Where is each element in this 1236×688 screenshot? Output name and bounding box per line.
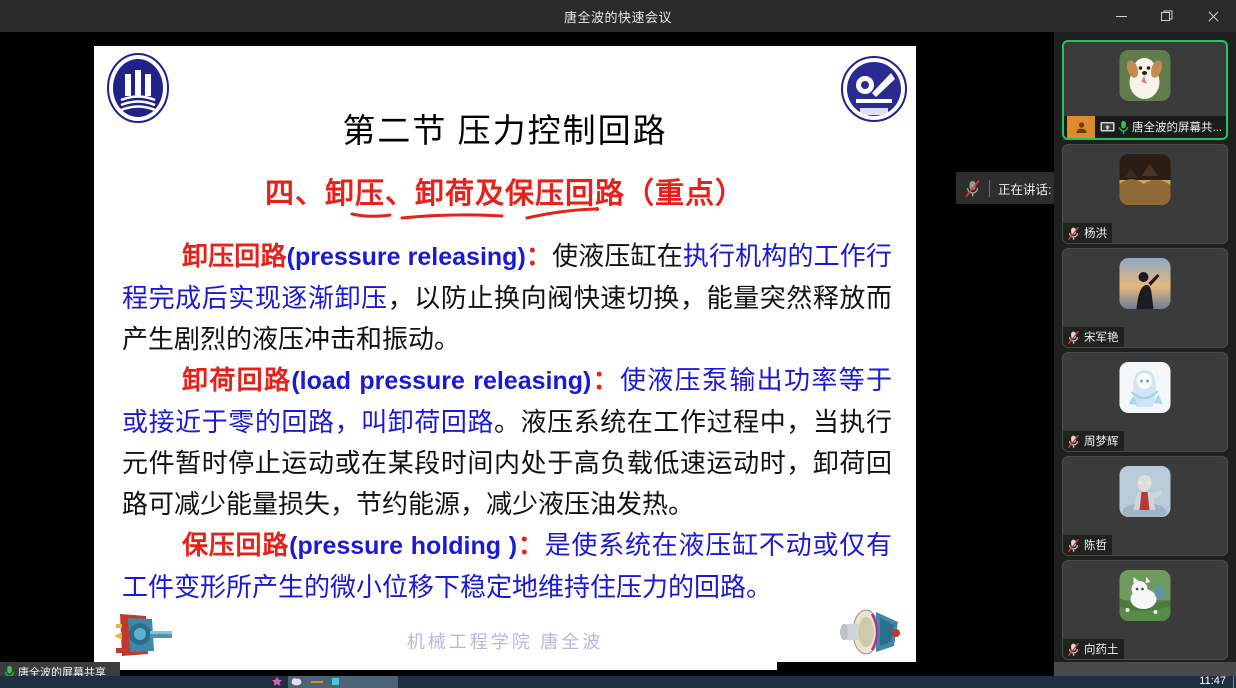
window-titlebar: 唐全波的快速会议 bbox=[0, 0, 1236, 32]
toast-divider bbox=[989, 180, 990, 197]
slide-footer: 机械工程学院 唐全波 bbox=[94, 628, 916, 654]
presentation-slide: 第二节 压力控制回路 四、卸压、卸荷及保压回路（重点） 卸压回路(pressur… bbox=[94, 46, 916, 664]
participant-label-5: 向药土 bbox=[1063, 639, 1124, 659]
run-0-0: 使液压缸在 bbox=[552, 242, 683, 271]
mic-muted-icon bbox=[1066, 642, 1081, 657]
participant-tile-4[interactable]: 陈哲 bbox=[1062, 456, 1228, 556]
cyan-square-icon[interactable] bbox=[332, 678, 339, 685]
paragraph-load-pressure-releasing: 卸荷回路(load pressure releasing)：使液压泵输出功率等于… bbox=[122, 360, 892, 525]
participant-tile-2[interactable]: 宋军艳 bbox=[1062, 248, 1228, 348]
paragraph-pressure-holding: 保压回路(pressure holding )：是使系统在液压缸不动或仅有工件变… bbox=[122, 525, 892, 608]
show-desktop-divider[interactable] bbox=[1233, 676, 1234, 688]
close-button[interactable] bbox=[1190, 0, 1236, 32]
avatar bbox=[1120, 362, 1171, 413]
participant-name-4: 陈哲 bbox=[1084, 537, 1107, 553]
window-controls bbox=[1098, 0, 1236, 32]
term-en-0: (pressure releasing) bbox=[287, 243, 526, 271]
person-sunset-avatar-icon bbox=[1120, 258, 1171, 309]
white-cat-avatar-icon bbox=[1120, 570, 1171, 621]
mic-muted-icon bbox=[1066, 330, 1081, 345]
avatar bbox=[1120, 258, 1171, 309]
term-en-1: (load pressure releasing) bbox=[291, 367, 591, 395]
participant-tile-5[interactable]: 向药土 bbox=[1062, 560, 1228, 660]
participant-name-2: 宋军艳 bbox=[1084, 329, 1119, 345]
participant-tile-0[interactable]: 唐全波的屏幕共... bbox=[1062, 40, 1228, 140]
term-en-2: (pressure holding ) bbox=[289, 532, 517, 560]
participant-name-5: 向药土 bbox=[1084, 641, 1119, 657]
taskbar-tray[interactable] bbox=[272, 677, 339, 686]
term-cn-2: 保压回路 bbox=[182, 531, 289, 560]
dog-avatar-icon bbox=[1120, 50, 1171, 101]
mic-muted-icon bbox=[1066, 434, 1081, 449]
subtitle-underlines bbox=[94, 206, 916, 220]
underlying-window-strip bbox=[0, 662, 1116, 670]
os-taskbar[interactable]: 11:47 bbox=[0, 676, 1236, 688]
participant-label-2: 宋军艳 bbox=[1063, 327, 1124, 347]
paragraph-pressure-releasing: 卸压回路(pressure releasing)：使液压缸在执行机构的工作行程完… bbox=[122, 236, 892, 360]
participant-label-0: 唐全波的屏幕共... bbox=[1064, 116, 1227, 138]
landscape-avatar-icon bbox=[1120, 154, 1171, 205]
participant-label-3: 周梦辉 bbox=[1063, 431, 1124, 451]
term-cn-1: 卸荷回路 bbox=[182, 366, 291, 395]
person-icon bbox=[1075, 121, 1088, 134]
avatar bbox=[1120, 50, 1171, 101]
participant-label-1: 杨洪 bbox=[1063, 223, 1112, 243]
participant-tile-3[interactable]: 周梦辉 bbox=[1062, 352, 1228, 452]
restore-icon bbox=[1161, 10, 1173, 22]
shared-screen-stage[interactable]: 第二节 压力控制回路 四、卸压、卸荷及保压回路（重点） 卸压回路(pressur… bbox=[0, 32, 1054, 662]
participant-tile-1[interactable]: 杨洪 bbox=[1062, 144, 1228, 244]
ultraman-avatar-icon bbox=[1120, 466, 1171, 517]
mic-muted-icon bbox=[1066, 226, 1081, 241]
term-colon-2: ： bbox=[517, 531, 545, 560]
mic-muted-icon bbox=[1066, 538, 1081, 553]
avatar bbox=[1120, 570, 1171, 621]
term-colon-1: ： bbox=[591, 366, 620, 395]
underline-strokes-icon bbox=[94, 206, 916, 222]
orange-bar-icon[interactable] bbox=[311, 677, 323, 686]
minimize-button[interactable] bbox=[1098, 0, 1144, 32]
cloud-app-icon[interactable] bbox=[291, 677, 302, 686]
anime-girl-avatar-icon bbox=[1120, 362, 1171, 413]
taskbar-clock[interactable]: 11:47 bbox=[1199, 675, 1226, 687]
close-icon bbox=[1207, 10, 1219, 22]
avatar bbox=[1120, 466, 1171, 517]
screen-share-icon bbox=[1100, 121, 1115, 134]
participant-label-4: 陈哲 bbox=[1063, 535, 1112, 555]
participant-name-1: 杨洪 bbox=[1084, 225, 1107, 241]
slide-body: 卸压回路(pressure releasing)：使液压缸在执行机构的工作行程完… bbox=[122, 236, 892, 608]
mic-on-icon bbox=[1118, 120, 1129, 135]
pink-app-icon[interactable] bbox=[272, 677, 282, 686]
window-title: 唐全波的快速会议 bbox=[564, 7, 672, 26]
host-badge bbox=[1067, 116, 1095, 138]
mic-muted-icon bbox=[964, 179, 981, 198]
participant-name-0: 唐全波的屏幕共... bbox=[1132, 119, 1222, 135]
participant-name-3: 周梦辉 bbox=[1084, 433, 1119, 449]
minimize-icon bbox=[1116, 16, 1127, 17]
avatar bbox=[1120, 154, 1171, 205]
slide-title: 第二节 压力控制回路 bbox=[94, 104, 916, 152]
term-cn-0: 卸压回路 bbox=[182, 242, 287, 271]
participant-rail[interactable]: 唐全波的屏幕共... 杨洪 bbox=[1054, 32, 1236, 662]
term-colon-0: ： bbox=[526, 242, 552, 271]
restore-button[interactable] bbox=[1144, 0, 1190, 32]
